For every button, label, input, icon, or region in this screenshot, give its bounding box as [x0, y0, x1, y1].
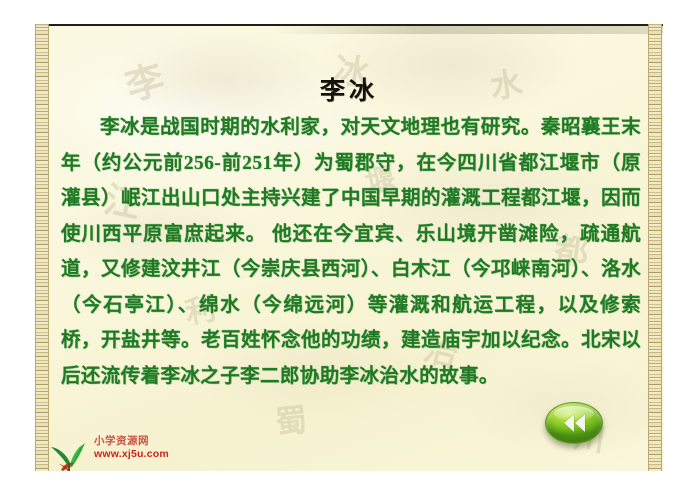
- background-watermark-glyph: 蜀: [273, 394, 310, 443]
- page-title: 李冰: [35, 71, 663, 107]
- green-sprout-icon: [47, 430, 93, 471]
- slide-top-shadow-band: [35, 26, 663, 34]
- rewind-triangle-second: [575, 414, 585, 432]
- rewind-double-left-icon: [564, 414, 585, 432]
- back-button[interactable]: [545, 402, 603, 444]
- site-url-text: www.xj5u.com: [94, 449, 169, 460]
- site-logo-text: 小学资源网 www.xj5u.com: [94, 436, 169, 460]
- rewind-triangle-first: [564, 414, 574, 432]
- site-name: 小学资源网: [94, 436, 169, 447]
- body-paragraph: 李冰是战国时期的水利家，对天文地理也有研究。秦昭襄王末年（约公元前256-前25…: [61, 110, 641, 394]
- slide-canvas: 李冰水江堰都利治蜀川 李冰 李冰是战国时期的水利家，对天文地理也有研究。秦昭襄王…: [35, 24, 663, 471]
- slide-root: 李冰水江堰都利治蜀川 李冰 李冰是战国时期的水利家，对天文地理也有研究。秦昭襄王…: [0, 0, 698, 493]
- site-watermark-logo: 小学资源网 www.xj5u.com: [47, 430, 177, 471]
